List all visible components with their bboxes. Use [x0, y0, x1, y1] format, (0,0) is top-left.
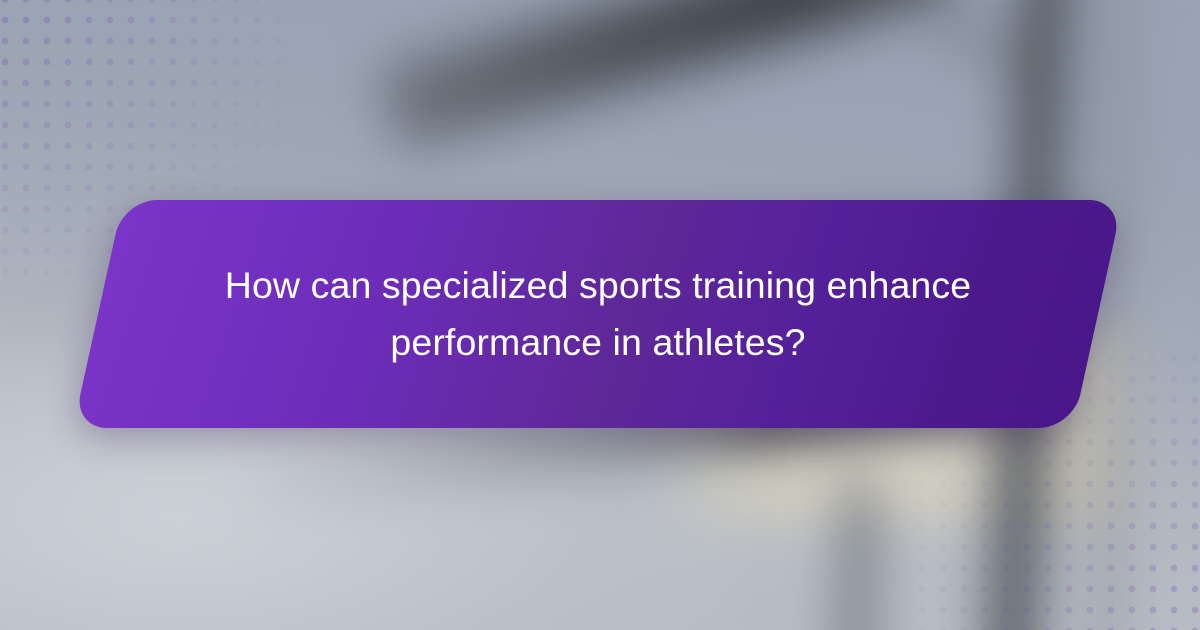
question-banner-text-area: How can specialized sports training enha…: [98, 200, 1098, 428]
question-title: How can specialized sports training enha…: [210, 257, 986, 371]
share-card-canvas: How can specialized sports training enha…: [0, 0, 1200, 630]
question-banner: How can specialized sports training enha…: [98, 200, 1098, 428]
